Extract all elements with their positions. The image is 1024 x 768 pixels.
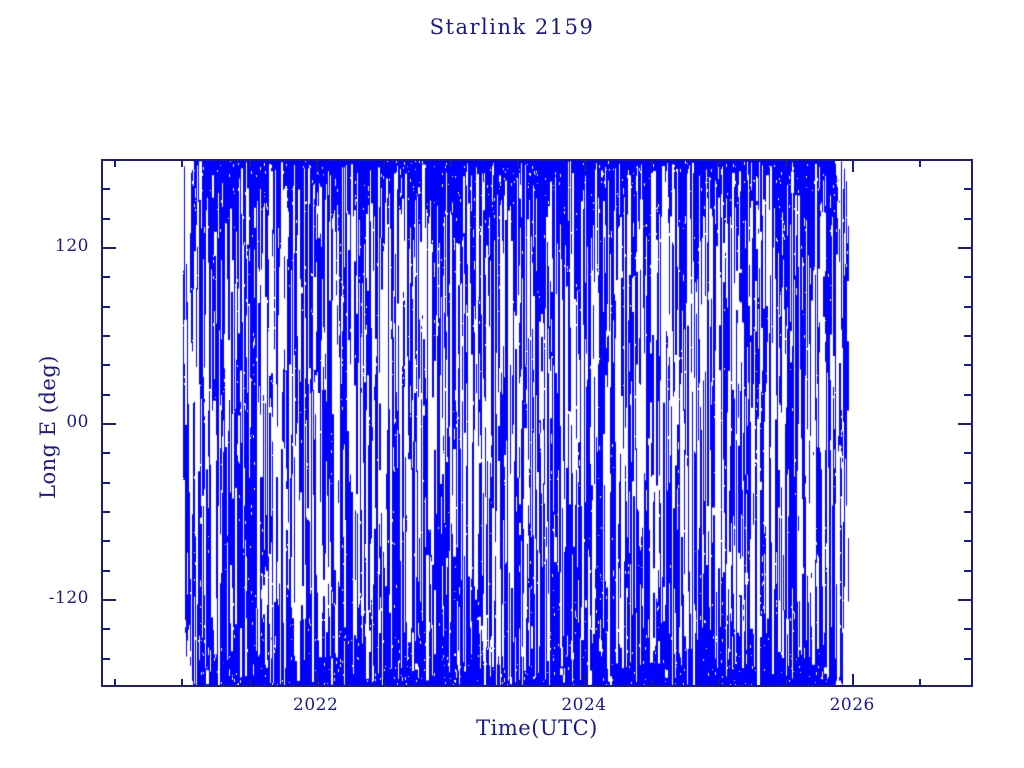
x-tick-label-2: 2026 <box>792 695 912 715</box>
y-minor-tick-right <box>964 482 973 484</box>
y-axis-title: Long E (deg) <box>36 297 60 557</box>
y-minor-tick <box>101 188 110 190</box>
y-minor-tick <box>101 364 110 366</box>
page-title: Starlink 2159 <box>0 15 1024 39</box>
x-major-tick-top <box>852 159 854 172</box>
y-minor-tick-right <box>964 452 973 454</box>
y-minor-tick-right <box>964 511 973 513</box>
x-minor-tick <box>450 679 452 687</box>
x-minor-tick <box>249 679 251 687</box>
x-minor-tick-top <box>249 159 251 167</box>
x-major-tick-top <box>316 159 318 172</box>
x-major-tick <box>584 674 586 687</box>
y-minor-tick-right <box>964 188 973 190</box>
y-minor-tick <box>101 570 110 572</box>
y-minor-tick-right <box>964 306 973 308</box>
x-tick-label-1: 2024 <box>524 695 644 715</box>
y-minor-tick <box>101 482 110 484</box>
x-minor-tick-top <box>718 159 720 167</box>
y-minor-tick <box>101 628 110 630</box>
y-major-tick <box>101 423 116 425</box>
y-minor-tick-right <box>964 276 973 278</box>
y-minor-tick <box>101 335 110 337</box>
x-minor-tick <box>718 679 720 687</box>
x-minor-tick <box>517 679 519 687</box>
x-major-tick-top <box>584 159 586 172</box>
x-minor-tick-top <box>383 159 385 167</box>
y-major-tick-right <box>958 599 973 601</box>
x-minor-tick-top <box>114 159 116 167</box>
y-minor-tick-right <box>964 628 973 630</box>
x-minor-tick <box>114 679 116 687</box>
y-minor-tick <box>101 452 110 454</box>
x-major-tick <box>852 674 854 687</box>
y-tick-label-2: -120 <box>9 588 89 608</box>
y-minor-tick-right <box>964 335 973 337</box>
x-minor-tick <box>181 679 183 687</box>
x-minor-tick <box>651 679 653 687</box>
y-minor-tick-right <box>964 394 973 396</box>
y-minor-tick-right <box>964 364 973 366</box>
x-minor-tick-top <box>785 159 787 167</box>
x-tick-label-0: 2022 <box>256 695 376 715</box>
y-major-tick-right <box>958 423 973 425</box>
x-minor-tick-top <box>517 159 519 167</box>
y-minor-tick <box>101 276 110 278</box>
x-minor-tick <box>919 679 921 687</box>
y-minor-tick <box>101 394 110 396</box>
x-minor-tick-top <box>181 159 183 167</box>
y-major-tick <box>101 247 116 249</box>
y-major-tick <box>101 599 116 601</box>
y-tick-label-0: 120 <box>9 236 89 256</box>
y-minor-tick-right <box>964 570 973 572</box>
y-minor-tick <box>101 218 110 220</box>
x-minor-tick <box>785 679 787 687</box>
x-minor-tick-top <box>651 159 653 167</box>
y-minor-tick <box>101 658 110 660</box>
x-minor-tick <box>383 679 385 687</box>
y-minor-tick-right <box>964 658 973 660</box>
longitude-trace-canvas <box>103 161 973 687</box>
x-minor-tick-top <box>450 159 452 167</box>
y-minor-tick-right <box>964 218 973 220</box>
plot-area <box>101 159 973 687</box>
y-minor-tick <box>101 540 110 542</box>
x-minor-tick-top <box>919 159 921 167</box>
y-minor-tick <box>101 306 110 308</box>
y-minor-tick-right <box>964 540 973 542</box>
x-major-tick <box>316 674 318 687</box>
x-axis-title: Time(UTC) <box>101 716 973 740</box>
y-major-tick-right <box>958 247 973 249</box>
y-minor-tick <box>101 511 110 513</box>
